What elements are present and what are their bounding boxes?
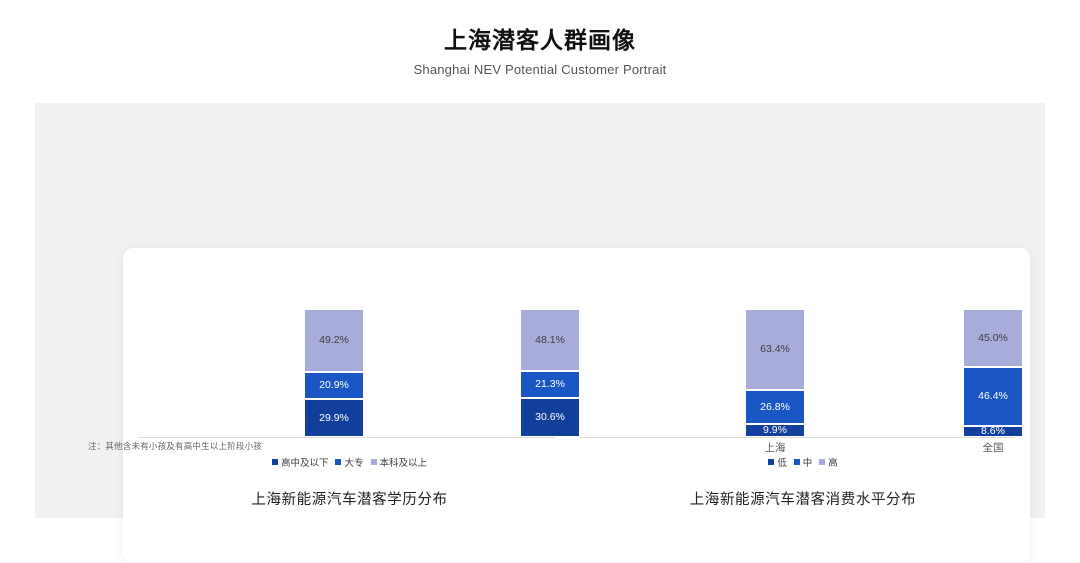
category-label-0: 上海 <box>745 440 805 455</box>
stacked-bar-chart2-1[interactable]: 45.0% 46.4% 8.6% <box>963 309 1023 437</box>
legend-label: 中 <box>803 455 813 469</box>
legend-item-1[interactable]: 大专 <box>335 455 363 469</box>
bar-segment-high: 45.0% <box>963 309 1023 367</box>
bar-segment-low: 29.9% <box>304 399 364 437</box>
legend-item-2[interactable]: 本科及以上 <box>371 455 428 469</box>
legend-item-1[interactable]: 中 <box>794 455 813 469</box>
legend-item-0[interactable]: 低 <box>768 455 787 469</box>
legend-label: 低 <box>777 455 787 469</box>
bar-segment-high: 63.4% <box>745 309 805 390</box>
x-axis-line-chart1 <box>138 437 555 438</box>
bar-segment-mid: 26.8% <box>745 390 805 424</box>
bar-segment-low: 8.6% <box>963 426 1023 437</box>
x-axis-line-chart2 <box>580 437 1015 438</box>
page-title: 上海潜客人群画像 <box>0 26 1080 55</box>
legend-chart2: 低 中 高 <box>576 455 1030 469</box>
legend-item-2[interactable]: 高 <box>819 455 838 469</box>
plot-area-chart2: 63.4% 26.8% 9.9% 45.0% 46.4% 8.6% 上海 全国 <box>576 248 1030 438</box>
legend-swatch-icon <box>768 459 774 465</box>
chart-caption: 上海新能源汽车潜客消费水平分布 <box>576 488 1030 509</box>
legend-swatch-icon <box>335 459 341 465</box>
legend-label: 高中及以下 <box>281 455 329 469</box>
legend-label: 大专 <box>344 455 363 469</box>
bar-segment-mid: 20.9% <box>304 372 364 399</box>
content-panel: 49.2% 20.9% 29.9% 48.1% 21.3% 30.6% 高中及以… <box>35 103 1045 518</box>
bar-segment-high: 49.2% <box>304 309 364 372</box>
legend-item-0[interactable]: 高中及以下 <box>272 455 329 469</box>
charts-card: 49.2% 20.9% 29.9% 48.1% 21.3% 30.6% 高中及以… <box>123 248 1030 563</box>
legend-label: 本科及以上 <box>380 455 428 469</box>
bar-segment-mid: 46.4% <box>963 367 1023 426</box>
bar-segment-high: 48.1% <box>520 309 580 371</box>
chart-education-distribution: 49.2% 20.9% 29.9% 48.1% 21.3% 30.6% 高中及以… <box>123 248 576 563</box>
stacked-bar-chart1-0[interactable]: 49.2% 20.9% 29.9% <box>304 309 364 437</box>
legend-chart1: 高中及以下 大专 本科及以上 <box>123 455 576 469</box>
bar-segment-mid: 21.3% <box>520 371 580 398</box>
page-header: 上海潜客人群画像 Shanghai NEV Potential Customer… <box>0 0 1080 77</box>
chart-caption: 上海新能源汽车潜客学历分布 <box>123 488 576 509</box>
legend-swatch-icon <box>371 459 377 465</box>
legend-swatch-icon <box>794 459 800 465</box>
legend-swatch-icon <box>272 459 278 465</box>
plot-area-chart1: 49.2% 20.9% 29.9% 48.1% 21.3% 30.6% <box>123 248 576 438</box>
page-subtitle: Shanghai NEV Potential Customer Portrait <box>0 62 1080 77</box>
category-label-1: 全国 <box>963 440 1023 455</box>
bar-segment-low: 9.9% <box>745 424 805 437</box>
chart-consumption-level-distribution: 63.4% 26.8% 9.9% 45.0% 46.4% 8.6% 上海 全国 … <box>576 248 1030 563</box>
bar-segment-low: 30.6% <box>520 398 580 437</box>
stacked-bar-chart1-1[interactable]: 48.1% 21.3% 30.6% <box>520 309 580 437</box>
legend-label: 高 <box>828 455 838 469</box>
legend-swatch-icon <box>819 459 825 465</box>
footnote: 注：其他含未有小孩及有高中生以上阶段小孩 <box>88 440 262 452</box>
stacked-bar-chart2-0[interactable]: 63.4% 26.8% 9.9% <box>745 309 805 437</box>
